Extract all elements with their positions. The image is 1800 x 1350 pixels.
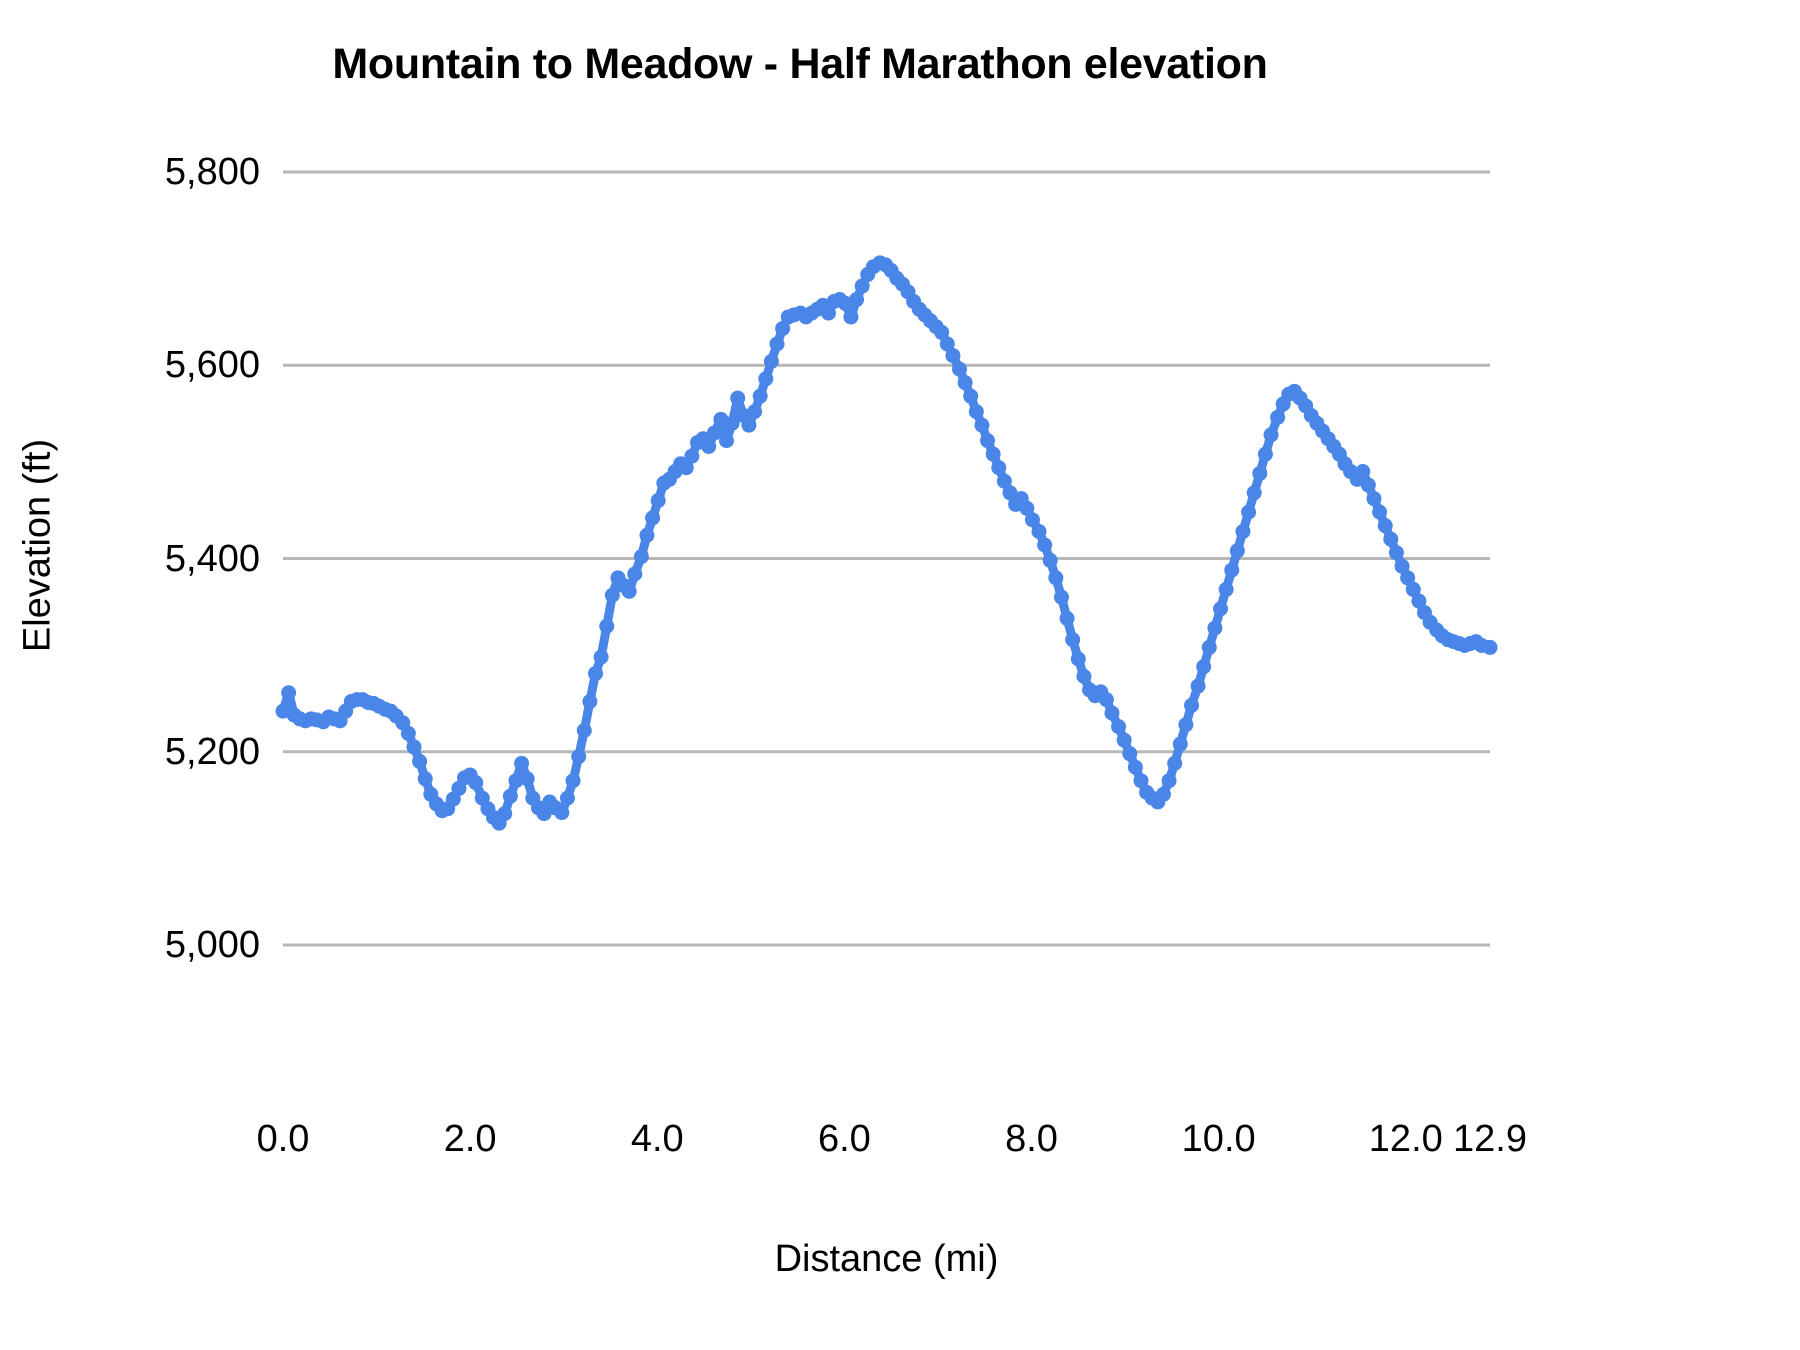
data-point: [588, 666, 603, 681]
data-point: [401, 726, 416, 741]
data-point: [1076, 669, 1091, 684]
data-point: [684, 449, 699, 464]
data-point: [577, 723, 592, 738]
data-point: [843, 309, 858, 324]
data-point: [741, 418, 756, 433]
data-point: [1207, 621, 1222, 636]
data-point: [1366, 491, 1381, 506]
data-point: [770, 336, 785, 351]
data-point: [1071, 651, 1086, 666]
data-point: [719, 433, 734, 448]
data-point: [758, 371, 773, 386]
data-point: [1054, 590, 1069, 605]
y-tick-label: 5,800: [60, 153, 260, 191]
data-point: [1247, 485, 1262, 500]
data-point: [571, 749, 586, 764]
x-axis-title: Distance (mi): [283, 1238, 1490, 1281]
data-point: [849, 292, 864, 307]
data-point: [1173, 737, 1188, 752]
data-point: [1122, 746, 1137, 761]
data-point: [1224, 563, 1239, 578]
elevation-chart: Mountain to Meadow - Half Marathon eleva…: [0, 0, 1800, 1350]
data-point: [412, 754, 427, 769]
plot-area: [283, 172, 1490, 945]
data-point: [1162, 773, 1177, 788]
data-point: [566, 773, 581, 788]
x-tick-label: 6.0: [764, 1120, 924, 1158]
data-point: [645, 510, 660, 525]
data-point: [1167, 756, 1182, 771]
x-tick-label: 12.9: [1410, 1120, 1570, 1158]
data-point: [945, 348, 960, 363]
data-point: [1355, 464, 1370, 479]
data-point: [753, 389, 768, 404]
y-tick-label: 5,600: [60, 346, 260, 384]
data-point: [514, 756, 529, 771]
data-point: [1383, 532, 1398, 547]
data-point: [1389, 545, 1404, 560]
data-point: [1213, 601, 1228, 616]
data-point: [986, 447, 1001, 462]
data-point: [594, 650, 609, 665]
data-series-elevation: [276, 255, 1498, 830]
data-point: [281, 685, 296, 700]
data-point: [974, 418, 989, 433]
data-point: [1191, 679, 1206, 694]
data-point: [701, 439, 716, 454]
data-point: [730, 391, 745, 406]
data-point: [1099, 692, 1114, 707]
data-point: [554, 805, 569, 820]
data-point: [958, 375, 973, 390]
data-point: [651, 493, 666, 508]
x-axis-tick-labels: 0.02.04.06.08.010.012.012.9: [0, 1120, 1800, 1180]
data-point: [418, 771, 433, 786]
data-point: [1111, 719, 1126, 734]
data-point: [560, 791, 575, 806]
data-point: [969, 404, 984, 419]
y-tick-label: 5,400: [60, 540, 260, 578]
data-point: [1156, 787, 1171, 802]
data-point: [1065, 632, 1080, 647]
data-point: [764, 354, 779, 369]
data-point: [1043, 553, 1058, 568]
data-point: [1128, 760, 1143, 775]
data-point: [1230, 543, 1245, 558]
x-tick-label: 2.0: [390, 1120, 550, 1158]
data-point: [1252, 466, 1267, 481]
data-point: [1196, 659, 1211, 674]
data-point: [503, 789, 518, 804]
data-point: [1264, 427, 1279, 442]
data-point: [1178, 717, 1193, 732]
data-point: [622, 584, 637, 599]
x-tick-label: 8.0: [952, 1120, 1112, 1158]
gridlines: [283, 172, 1490, 945]
data-point: [1202, 640, 1217, 655]
y-tick-label: 5,200: [60, 733, 260, 771]
data-point: [639, 528, 654, 543]
data-point: [1241, 505, 1256, 520]
data-point: [980, 433, 995, 448]
data-point: [1048, 570, 1063, 585]
data-point: [1104, 706, 1119, 721]
data-point: [1483, 640, 1498, 655]
data-point: [582, 694, 597, 709]
data-point: [520, 771, 535, 786]
data-point: [406, 739, 421, 754]
data-point: [991, 460, 1006, 475]
data-point: [1270, 410, 1285, 425]
data-point: [1184, 698, 1199, 713]
y-tick-label: 5,000: [60, 926, 260, 964]
data-point: [627, 566, 642, 581]
data-point: [963, 389, 978, 404]
x-tick-label: 10.0: [1139, 1120, 1299, 1158]
data-point: [1060, 611, 1075, 626]
data-point: [1378, 518, 1393, 533]
data-point: [599, 619, 614, 634]
x-tick-label: 4.0: [577, 1120, 737, 1158]
data-point: [952, 362, 967, 377]
series-line: [283, 263, 1490, 823]
data-point: [1258, 447, 1273, 462]
data-point: [747, 404, 762, 419]
data-point: [468, 775, 483, 790]
data-point: [634, 549, 649, 564]
data-point: [497, 806, 512, 821]
data-point: [1235, 524, 1250, 539]
data-point: [1372, 505, 1387, 520]
data-point: [1037, 537, 1052, 552]
data-point: [1117, 733, 1132, 748]
data-point: [1361, 478, 1376, 493]
data-point: [1219, 582, 1234, 597]
plot-svg: [283, 172, 1490, 945]
data-point: [1032, 524, 1047, 539]
x-tick-label: 0.0: [203, 1120, 363, 1158]
